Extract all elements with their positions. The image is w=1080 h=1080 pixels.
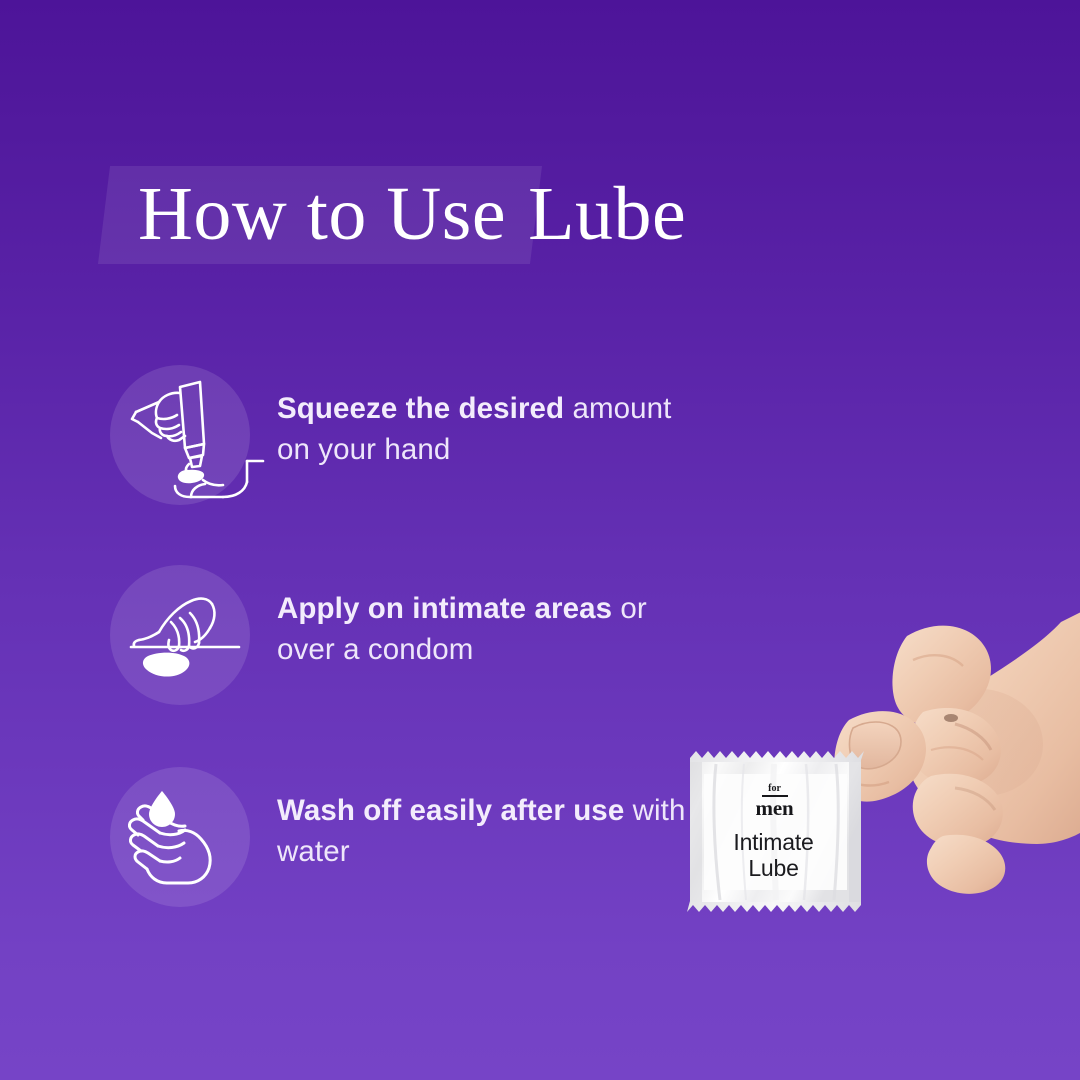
list-item: Wash off easily after use with water xyxy=(105,762,705,912)
step-3-text: Wash off easily after use with water xyxy=(277,790,707,872)
product-photo: for men Intimate Lube xyxy=(655,600,1080,1000)
foil-highlight xyxy=(773,764,776,900)
step-2-bold: Apply on intimate areas xyxy=(277,592,612,625)
step-1-icon-badge xyxy=(105,360,255,510)
hand-applying-icon xyxy=(105,560,265,710)
step-1-text: Squeeze the desired amount on your hand xyxy=(277,388,707,470)
list-item: Squeeze the desired amount on your hand xyxy=(105,360,705,510)
step-2-text: Apply on intimate areas or over a condom xyxy=(277,588,707,670)
washing-hands-droplet-icon xyxy=(105,762,265,912)
step-3-bold: Wash off easily after use xyxy=(277,794,624,827)
step-2-icon-badge xyxy=(105,560,255,710)
title-text-row: How to UseLube xyxy=(138,158,686,270)
little-finger xyxy=(927,835,1005,894)
step-3-icon-badge xyxy=(105,762,255,912)
title-emphasis: How to Use xyxy=(138,172,506,256)
step-1-bold: Squeeze the desired xyxy=(277,392,564,425)
sachet-shape xyxy=(686,740,865,925)
list-item: Apply on intimate areas or over a condom xyxy=(105,560,705,710)
page-title: How to UseLube xyxy=(104,158,964,276)
sachet-left-shade xyxy=(690,762,702,902)
sachet-right-shade xyxy=(849,762,861,902)
hand-squeezing-tube-icon xyxy=(105,360,265,510)
how-to-use-lube-poster: How to UseLube xyxy=(0,0,1080,1080)
title-remainder: Lube xyxy=(528,172,686,256)
finger-shadow-dot xyxy=(944,714,958,722)
product-sachet: for men Intimate Lube xyxy=(686,740,865,925)
